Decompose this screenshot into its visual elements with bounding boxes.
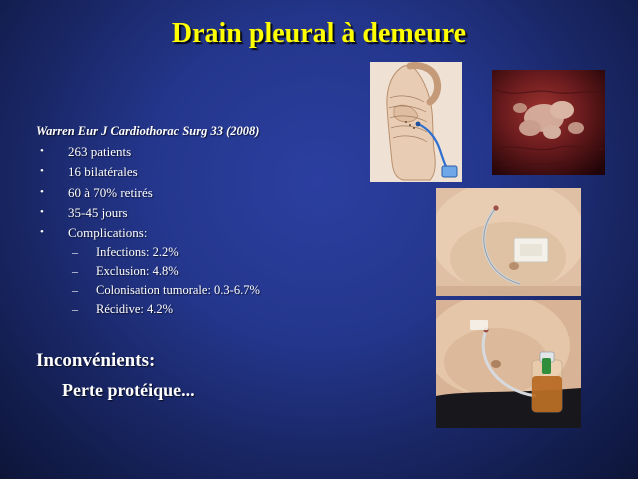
sub-list-item: – Récidive: 4.2%	[72, 303, 366, 316]
bullet-marker-icon: •	[36, 206, 68, 220]
bullet-marker-icon: •	[36, 145, 68, 159]
list-item: • 35-45 jours	[36, 206, 366, 220]
slide-canvas: Drain pleural à demeure Warren Eur J Car…	[0, 0, 638, 479]
patient-drain-dressing-svg	[436, 188, 581, 296]
sub-list-item: – Colonisation tumorale: 0.3-6.7%	[72, 284, 366, 297]
thoracoscopy-photo-svg	[492, 70, 605, 175]
patient-drain-dressing-photo-image	[436, 188, 581, 296]
content-body: Warren Eur J Cardiothorac Surg 33 (2008)…	[36, 124, 366, 322]
list-item: • Complications:	[36, 226, 366, 240]
sub-list-item: – Infections: 2.2%	[72, 246, 366, 259]
anatomy-illustration-image	[370, 62, 462, 182]
page-title: Drain pleural à demeure	[0, 18, 638, 50]
bullet-marker-icon: •	[36, 165, 68, 179]
anatomy-illustration-svg	[370, 62, 462, 182]
bullet-marker-icon: •	[36, 226, 68, 240]
patient-drain-bottle-svg	[436, 300, 581, 428]
sub-list-item-label: Colonisation tumorale: 0.3-6.7%	[96, 284, 366, 297]
list-item-label: 16 bilatérales	[68, 165, 366, 178]
dash-marker-icon: –	[72, 265, 96, 277]
sub-list-item-label: Récidive: 4.2%	[96, 303, 366, 316]
reference-citation: Warren Eur J Cardiothorac Surg 33 (2008)	[36, 124, 366, 139]
conclusion-heading: Inconvénients:	[36, 350, 376, 372]
patient-drain-bottle-photo-image	[436, 300, 581, 428]
thoracoscopy-photo-image	[492, 70, 605, 175]
sub-list-item-label: Exclusion: 4.8%	[96, 265, 366, 278]
list-item-label: 60 à 70% retirés	[68, 186, 366, 199]
conclusion-detail: Perte protéique...	[62, 380, 376, 401]
list-item: • 60 à 70% retirés	[36, 186, 366, 200]
dash-marker-icon: –	[72, 284, 96, 296]
list-item-label: Complications:	[68, 226, 366, 239]
list-item: • 16 bilatérales	[36, 165, 366, 179]
bullet-marker-icon: •	[36, 186, 68, 200]
list-item-label: 35-45 jours	[68, 206, 366, 219]
conclusion-block: Inconvénients: Perte protéique...	[36, 350, 376, 401]
sub-list-item-label: Infections: 2.2%	[96, 246, 366, 259]
sub-list-item: – Exclusion: 4.8%	[72, 265, 366, 278]
dash-marker-icon: –	[72, 303, 96, 315]
dash-marker-icon: –	[72, 246, 96, 258]
list-item-label: 263 patients	[68, 145, 366, 158]
list-item: • 263 patients	[36, 145, 366, 159]
